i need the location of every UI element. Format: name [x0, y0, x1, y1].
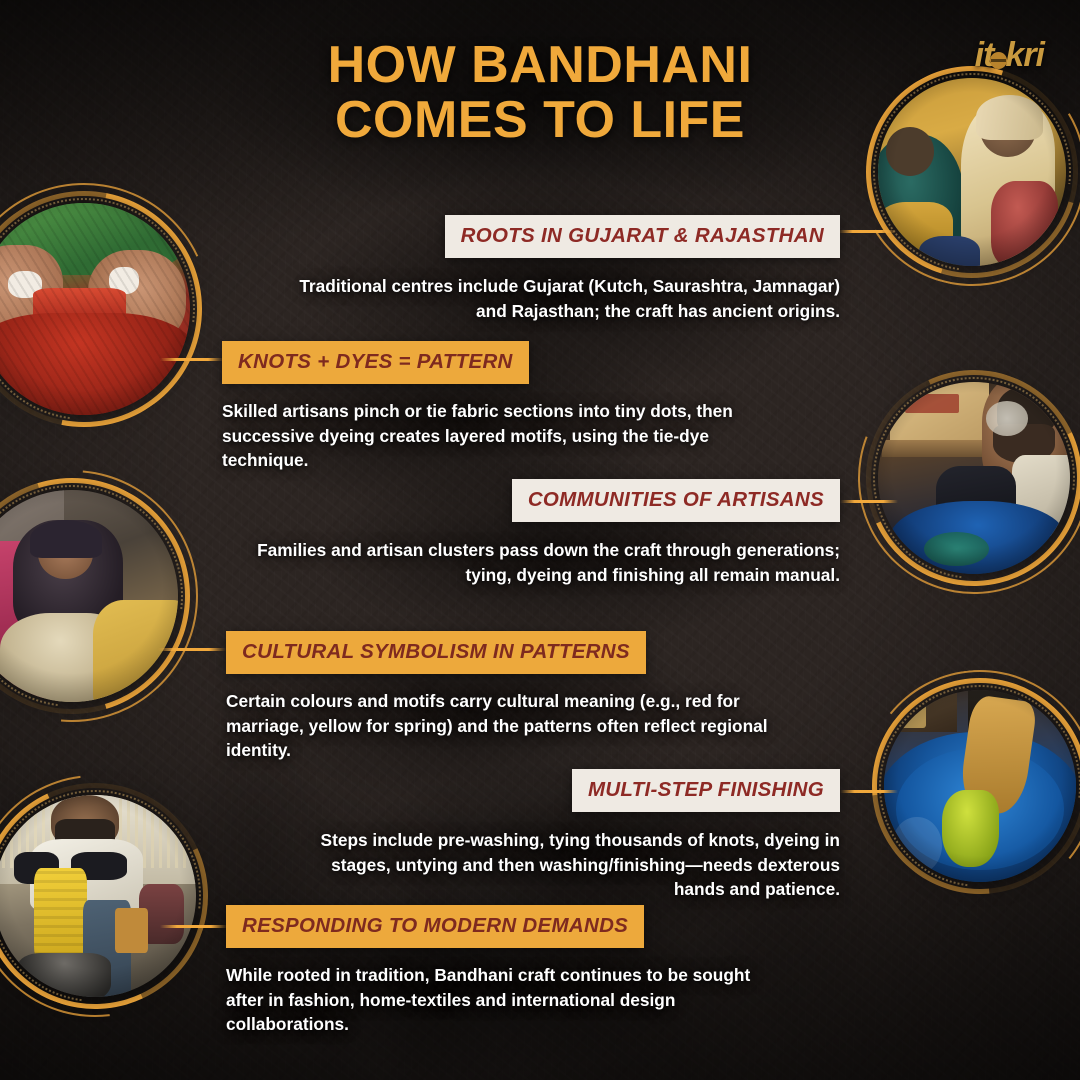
- scene-woman-seated-tying: [0, 490, 178, 702]
- photo-hands-red-fabric: [0, 203, 190, 415]
- section-body-finishing: Steps include pre-washing, tying thousan…: [300, 828, 840, 902]
- page-title: HOW BANDHANI COMES TO LIFE: [0, 38, 1080, 148]
- page-title-line-1: HOW BANDHANI: [0, 38, 1080, 93]
- scene-artisan-dyeing-tub: [878, 382, 1070, 574]
- connector-line-knots: [160, 358, 224, 361]
- section-communities: COMMUNITIES OF ARTISANS Families and art…: [240, 479, 840, 587]
- photo-woman-seated-tying: [0, 490, 178, 702]
- connector-line-communities: [840, 500, 898, 503]
- photo-disc: [0, 795, 196, 997]
- photo-artisan-yellow-skein: [0, 795, 196, 997]
- photo-disc: [878, 382, 1070, 574]
- page-title-line-2: COMES TO LIFE: [0, 93, 1080, 148]
- connector-line-roots: [838, 230, 896, 233]
- scene-hands-red-fabric: [0, 203, 190, 415]
- section-header-communities: COMMUNITIES OF ARTISANS: [512, 479, 840, 522]
- section-body-knots: Skilled artisans pinch or tie fabric sec…: [222, 399, 767, 473]
- connector-line-symbolism: [158, 648, 226, 651]
- section-body-roots: Traditional centres include Gujarat (Kut…: [280, 274, 840, 323]
- section-body-modern: While rooted in tradition, Bandhani craf…: [226, 963, 786, 1037]
- scene-artisan-yellow-skein: [0, 795, 196, 997]
- section-symbolism: CULTURAL SYMBOLISM IN PATTERNS Certain c…: [226, 631, 786, 763]
- section-body-symbolism: Certain colours and motifs carry cultura…: [226, 689, 786, 763]
- section-finishing: MULTI-STEP FINISHING Steps include pre-w…: [300, 769, 840, 902]
- connector-line-modern: [160, 925, 228, 928]
- section-header-roots: ROOTS IN GUJARAT & RAJASTHAN: [445, 215, 840, 258]
- section-header-knots: KNOTS + DYES = PATTERN: [222, 341, 529, 384]
- section-header-finishing: MULTI-STEP FINISHING: [572, 769, 840, 812]
- section-header-modern: RESPONDING TO MODERN DEMANDS: [226, 905, 644, 948]
- photo-disc: [0, 203, 190, 415]
- photo-disc: [0, 490, 178, 702]
- section-header-symbolism: CULTURAL SYMBOLISM IN PATTERNS: [226, 631, 646, 674]
- brand-logo[interactable]: itkri: [975, 38, 1044, 72]
- photo-disc: [884, 690, 1076, 882]
- section-roots: ROOTS IN GUJARAT & RAJASTHAN Traditional…: [280, 215, 840, 323]
- section-knots: KNOTS + DYES = PATTERN Skilled artisans …: [222, 341, 767, 473]
- photo-artisan-dyeing-tub: [878, 382, 1070, 574]
- section-modern: RESPONDING TO MODERN DEMANDS While roote…: [226, 905, 786, 1037]
- connector-line-finishing: [840, 790, 898, 793]
- photo-indigo-vat: [884, 690, 1076, 882]
- brand-logo-text-after: kri: [1005, 36, 1044, 74]
- section-body-communities: Families and artisan clusters pass down …: [240, 538, 840, 587]
- scene-indigo-vat: [884, 690, 1076, 882]
